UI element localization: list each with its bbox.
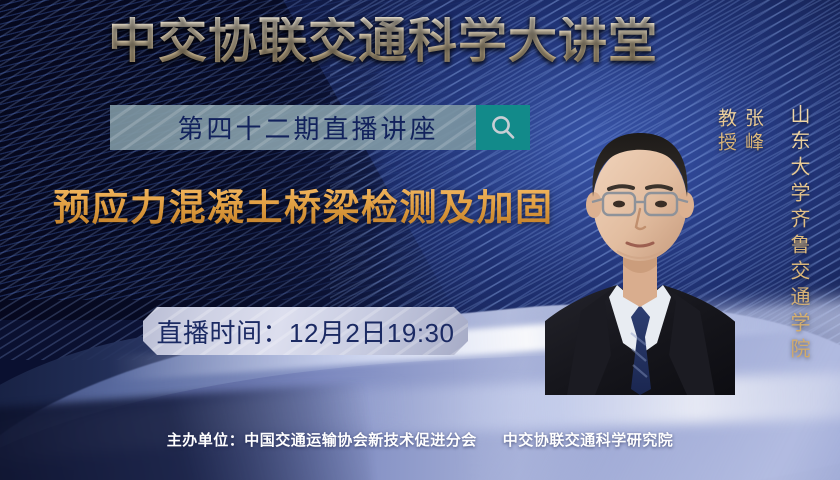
speaker-portrait xyxy=(545,105,735,395)
speaker-institution: 山东大学齐鲁交通学院 xyxy=(784,104,813,364)
search-icon[interactable] xyxy=(476,105,530,150)
broadcast-time-badge: 直播时间：12月2日19:30 xyxy=(143,307,468,355)
footer-organizers: 主办单位：中国交通运输协会新技术促进分会中交协联交通科学研究院 xyxy=(0,429,840,450)
session-label: 第四十二期直播讲座 xyxy=(147,109,438,146)
webinar-poster: 中交协联交通科学大讲堂 第四十二期直播讲座 预应力混凝土桥梁检测及加固 直播时间… xyxy=(0,0,840,480)
speaker-name: 张峰 xyxy=(742,108,763,156)
organizer-label: 主办单位： xyxy=(167,432,245,449)
organizer-name-1: 中国交通运输协会新技术促进分会 xyxy=(244,432,477,449)
page-title: 中交协联交通科学大讲堂 xyxy=(108,17,658,66)
broadcast-time-text: 直播时间：12月2日19:30 xyxy=(157,313,455,350)
lecture-topic-title: 预应力混凝土桥梁检测及加固 xyxy=(53,189,554,226)
session-bar: 第四十二期直播讲座 xyxy=(110,105,530,150)
speaker-academic-title: 教授 xyxy=(715,108,736,156)
organizer-name-2: 中交协联交通科学研究院 xyxy=(503,432,674,449)
speaker-name-title: 张峰 教授 xyxy=(712,108,766,156)
session-bar-background: 第四十二期直播讲座 xyxy=(110,105,476,150)
